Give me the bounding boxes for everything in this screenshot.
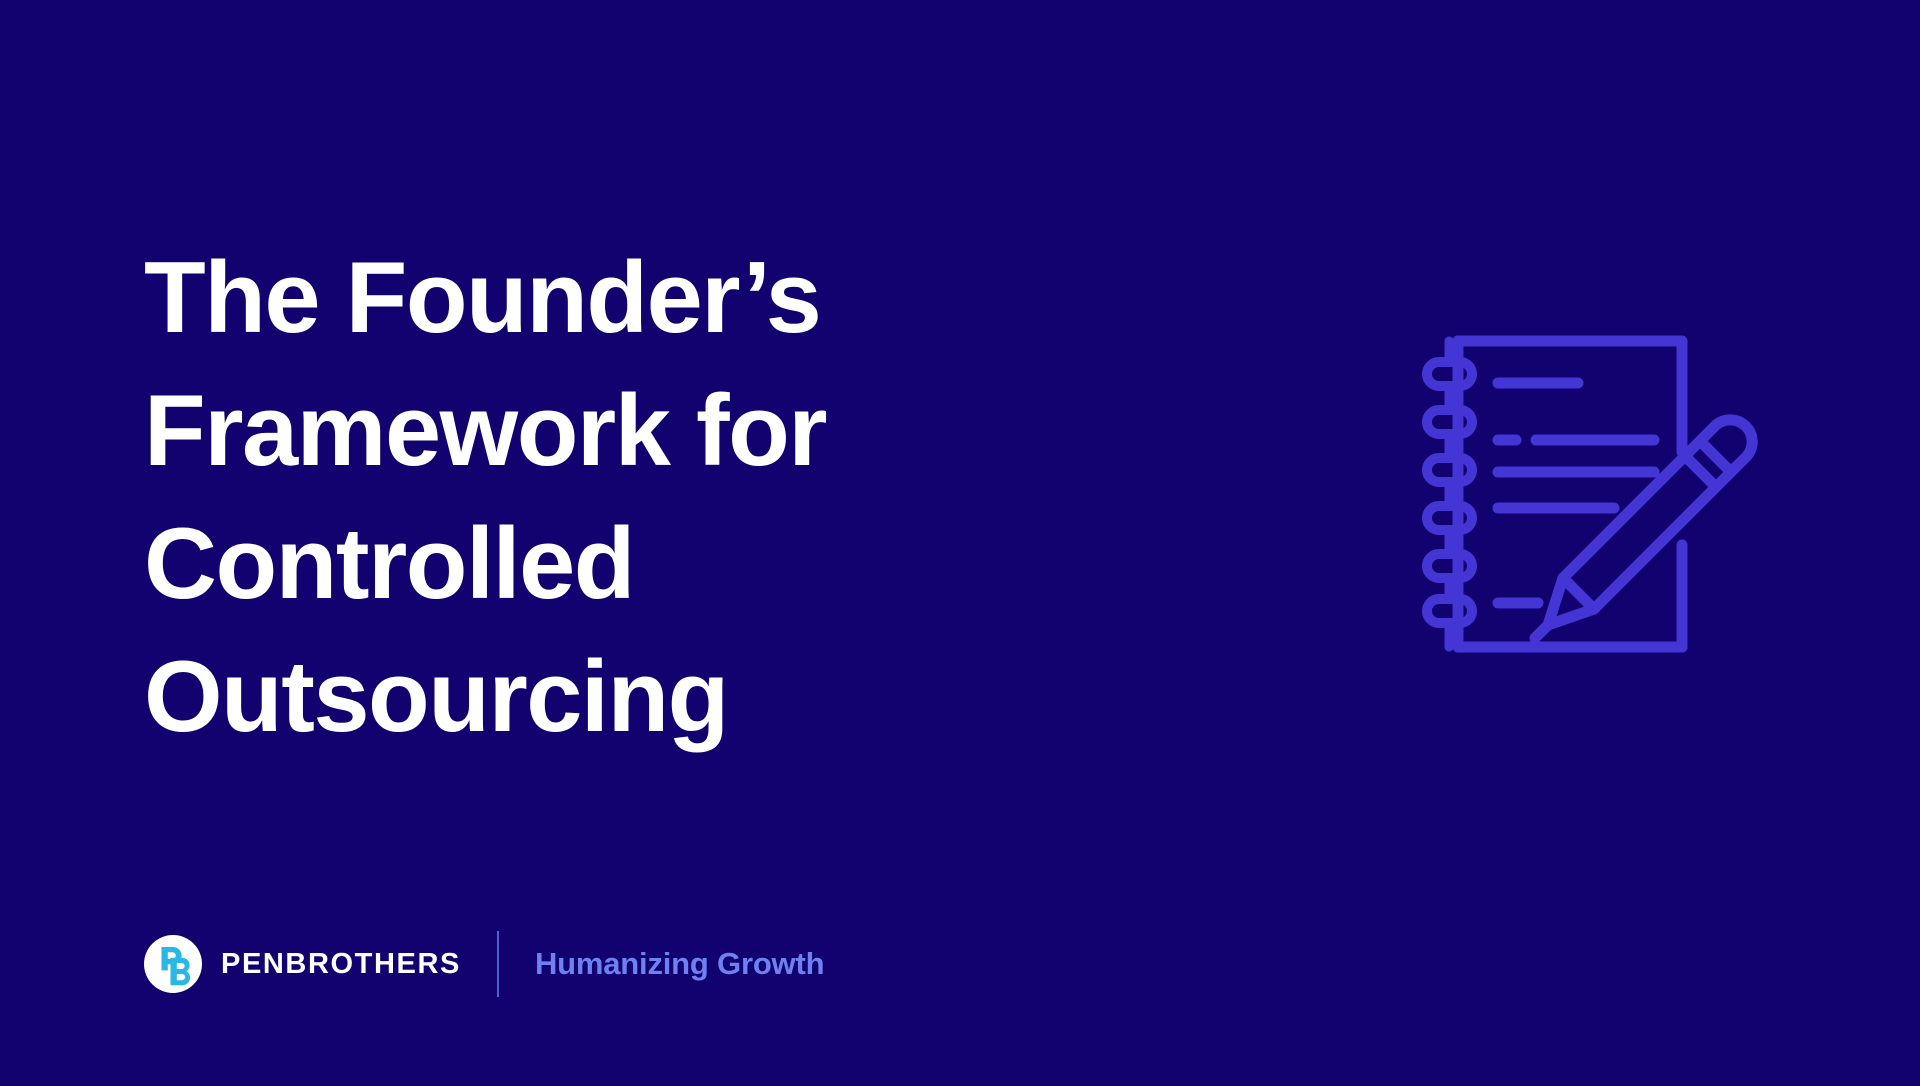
penbrothers-pb-monogram-icon xyxy=(144,935,202,993)
brand-divider xyxy=(497,931,499,997)
pencil-tip xyxy=(1548,578,1594,625)
notebook-illustration-svg xyxy=(1400,300,1780,680)
title-line-3: Controlled xyxy=(144,498,974,631)
title-line-2: Framework for xyxy=(144,365,974,498)
title-line-1: The Founder’s xyxy=(144,232,974,365)
brand-wordmark: PENBROTHERS xyxy=(221,948,461,981)
notebook-with-pencil-icon xyxy=(1400,300,1780,680)
pb-monogram-svg xyxy=(144,935,202,993)
slide-canvas: The Founder’s Framework for Controlled O… xyxy=(0,0,1920,1086)
pencil-ferrule-band xyxy=(1685,456,1716,487)
pencil-graphite-point xyxy=(1535,625,1548,638)
pb-monogram-glyphs xyxy=(162,947,191,985)
title-line-4: Outsourcing xyxy=(144,631,974,764)
pencil-icon xyxy=(1535,420,1752,638)
pencil-eraser-cap xyxy=(1700,420,1752,472)
brand-lockup: PENBROTHERS Humanizing Growth xyxy=(144,928,824,1000)
pencil-body-side-b xyxy=(1594,472,1731,609)
page-title: The Founder’s Framework for Controlled O… xyxy=(144,232,974,764)
brand-tagline: Humanizing Growth xyxy=(535,946,824,982)
